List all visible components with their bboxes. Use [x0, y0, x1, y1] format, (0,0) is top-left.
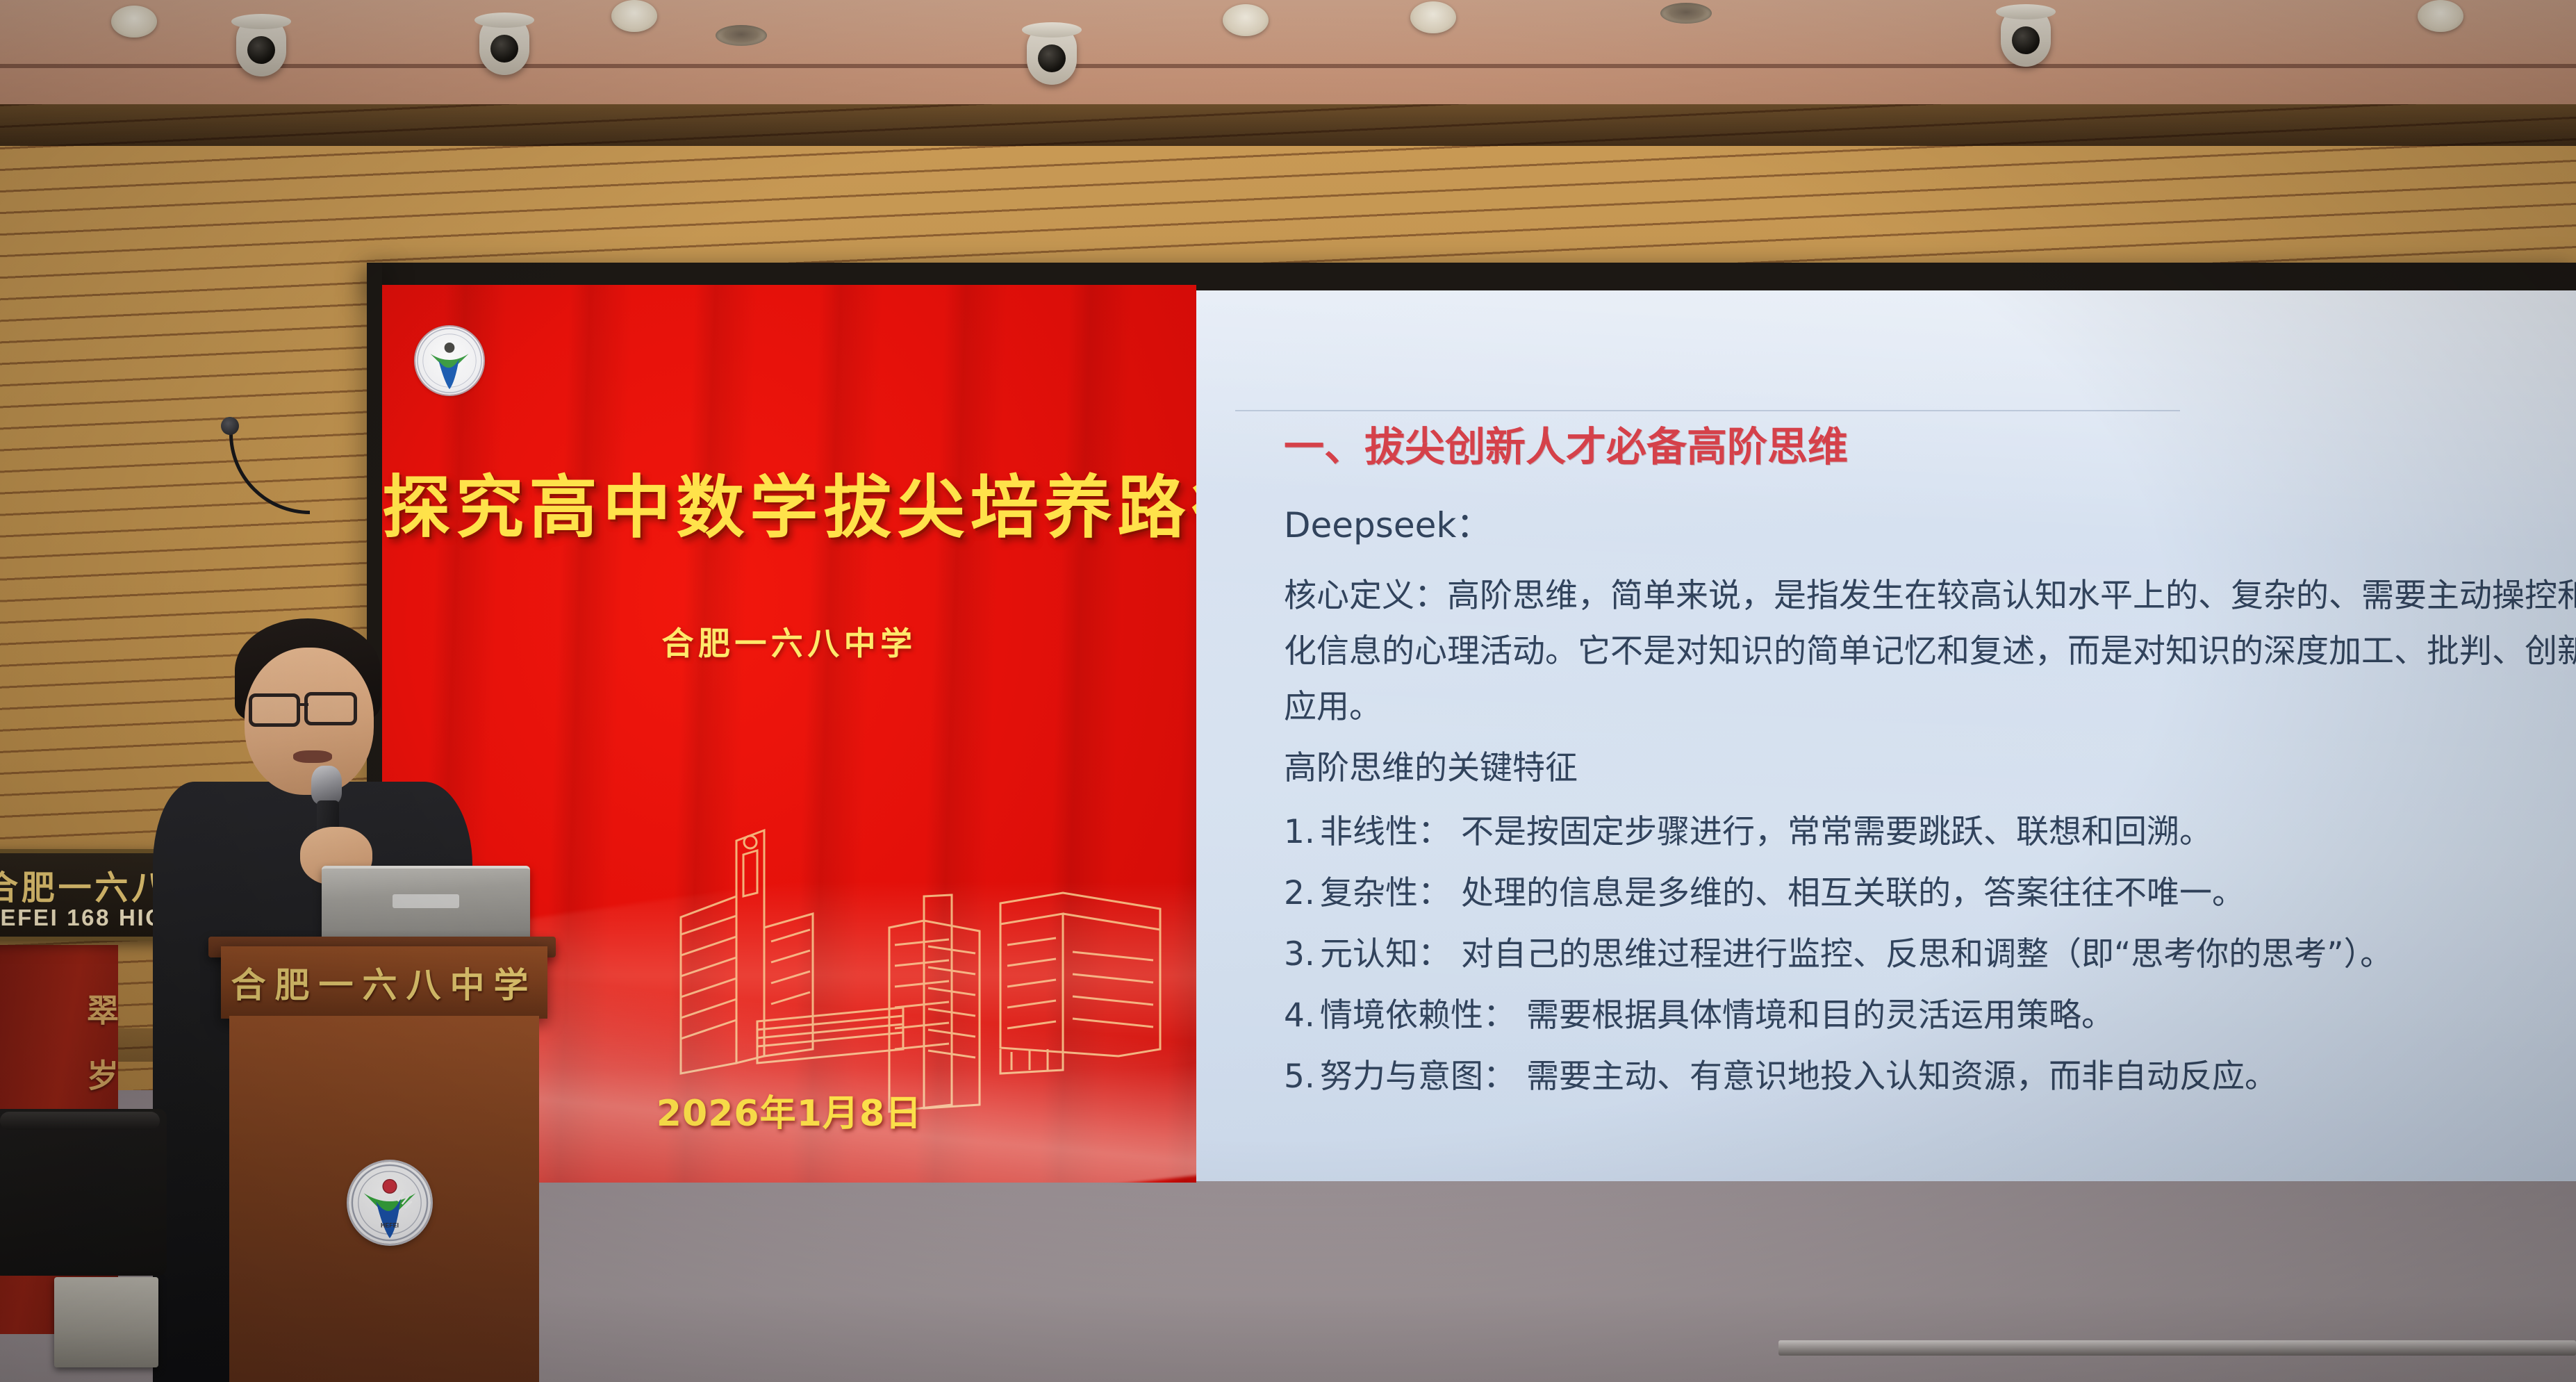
ceiling-light-icon: [611, 0, 657, 32]
slide-feature-item: 2.复杂性： 处理的信息是多维的、相互关联的，答案往往不唯一。: [1284, 866, 2245, 914]
eyeglasses-right-lens-icon: [304, 692, 357, 725]
eyeglasses-bridge-icon: [299, 703, 308, 706]
auditorium-scene: 探究高中数学拔尖培养路径 合肥一六八中学 2026年1月8日 一、拔尖创新人才必…: [0, 0, 2576, 1382]
svg-text:HEFEI: HEFEI: [381, 1221, 399, 1228]
ceiling-speaker-icon: [1660, 3, 1712, 24]
wall-shadow-band: [0, 104, 2576, 146]
slide-feature-number: 1.: [1284, 813, 1320, 851]
slide-feature-number: 4.: [1284, 996, 1320, 1035]
school-logo-mark: [415, 327, 484, 395]
slide-feature-text: 努力与意图： 需要主动、有意识地投入认知资源，而非自动反应。: [1320, 1058, 2277, 1096]
slide-feature-text: 非线性： 不是按固定步骤进行，常常需要跳跃、联想和回溯。: [1320, 813, 2212, 851]
laptop-logo-badge: [393, 894, 459, 908]
slide-feature-text: 情境依赖性： 需要根据具体情境和目的灵活运用策略。: [1320, 996, 2114, 1035]
school-logo: [415, 327, 484, 395]
stage-equipment-box: [54, 1277, 158, 1367]
slide-feature-item: 4.情境依赖性： 需要根据具体情境和目的灵活运用策略。: [1284, 988, 2114, 1036]
slide-feature-text: 复杂性： 处理的信息是多维的、相互关联的，答案往往不唯一。: [1320, 874, 2245, 912]
podium-school-emblem: HEFEI: [349, 1162, 431, 1244]
ceiling-light-icon: [1223, 4, 1269, 36]
podium-school-emblem-mark: HEFEI: [349, 1162, 431, 1244]
slide-feature-number: 3.: [1284, 935, 1320, 973]
ceiling-light-icon: [111, 6, 157, 38]
gooseneck-microphone-capsule-icon: [221, 417, 239, 435]
slide-features-label: 高阶思维的关键特征: [1284, 741, 1578, 789]
ceiling-speaker-icon: [716, 25, 767, 46]
slide-definition-line-3: 应用。: [1284, 680, 1382, 727]
slide-feature-item: 3.元认知： 对自己的思维过程进行监控、反思和调整（即“思考你的思考”）。: [1284, 927, 2393, 975]
security-camera-icon: [236, 17, 286, 76]
podium-nameplate-text: 合肥一六八中学: [221, 957, 547, 1007]
microphone-head-icon: [311, 766, 342, 805]
slide-feature-item: 1.非线性： 不是按固定步骤进行，常常需要跳跃、联想和回溯。: [1284, 805, 2212, 853]
security-camera-icon: [2001, 7, 2051, 67]
slide-source-label: Deepseek：: [1284, 497, 1491, 548]
slide-feature-number: 2.: [1284, 874, 1320, 912]
slide-feature-number: 5.: [1284, 1058, 1320, 1096]
stage-chair: [0, 1109, 167, 1276]
eyeglasses-left-lens-icon: [249, 693, 300, 727]
security-camera-icon: [479, 15, 529, 75]
slide-definition-line-2: 化信息的心理活动。它不是对知识的简单记忆和复述，而是对知识的深度加工、批判、创新…: [1284, 624, 2576, 672]
ceiling-seam: [0, 64, 2576, 68]
slide-title: 探究高中数学拔尖培养路径: [382, 471, 1196, 546]
projected-slide-content: 一、拔尖创新人才必备高阶思维 Deepseek： 核心定义：高阶思维，简单来说，…: [1196, 290, 2576, 1181]
presenter-laptop[interactable]: [322, 866, 530, 944]
ceiling-light-icon: [2418, 0, 2463, 32]
ceiling-light-icon: [1410, 1, 1456, 33]
slide-section-heading: 一、拔尖创新人才必备高阶思维: [1284, 414, 1848, 472]
stage-edge-rail: [1778, 1340, 2576, 1356]
podium-nameplate: 合肥一六八中学: [221, 946, 547, 1019]
presenter-mouth: [293, 750, 332, 763]
stage-chair-armrest: [0, 1112, 160, 1130]
security-camera-icon: [1027, 25, 1077, 85]
slide-feature-text: 元认知： 对自己的思维过程进行监控、反思和调整（即“思考你的思考”）。: [1320, 935, 2393, 973]
slide-feature-item: 5.努力与意图： 需要主动、有意识地投入认知资源，而非自动反应。: [1284, 1049, 2277, 1097]
slide-definition-line-1: 核心定义：高阶思维，简单来说，是指发生在较高认知水平上的、复杂的、需要主动操控和…: [1284, 568, 2576, 616]
slide-rule-line: [1235, 410, 2180, 411]
